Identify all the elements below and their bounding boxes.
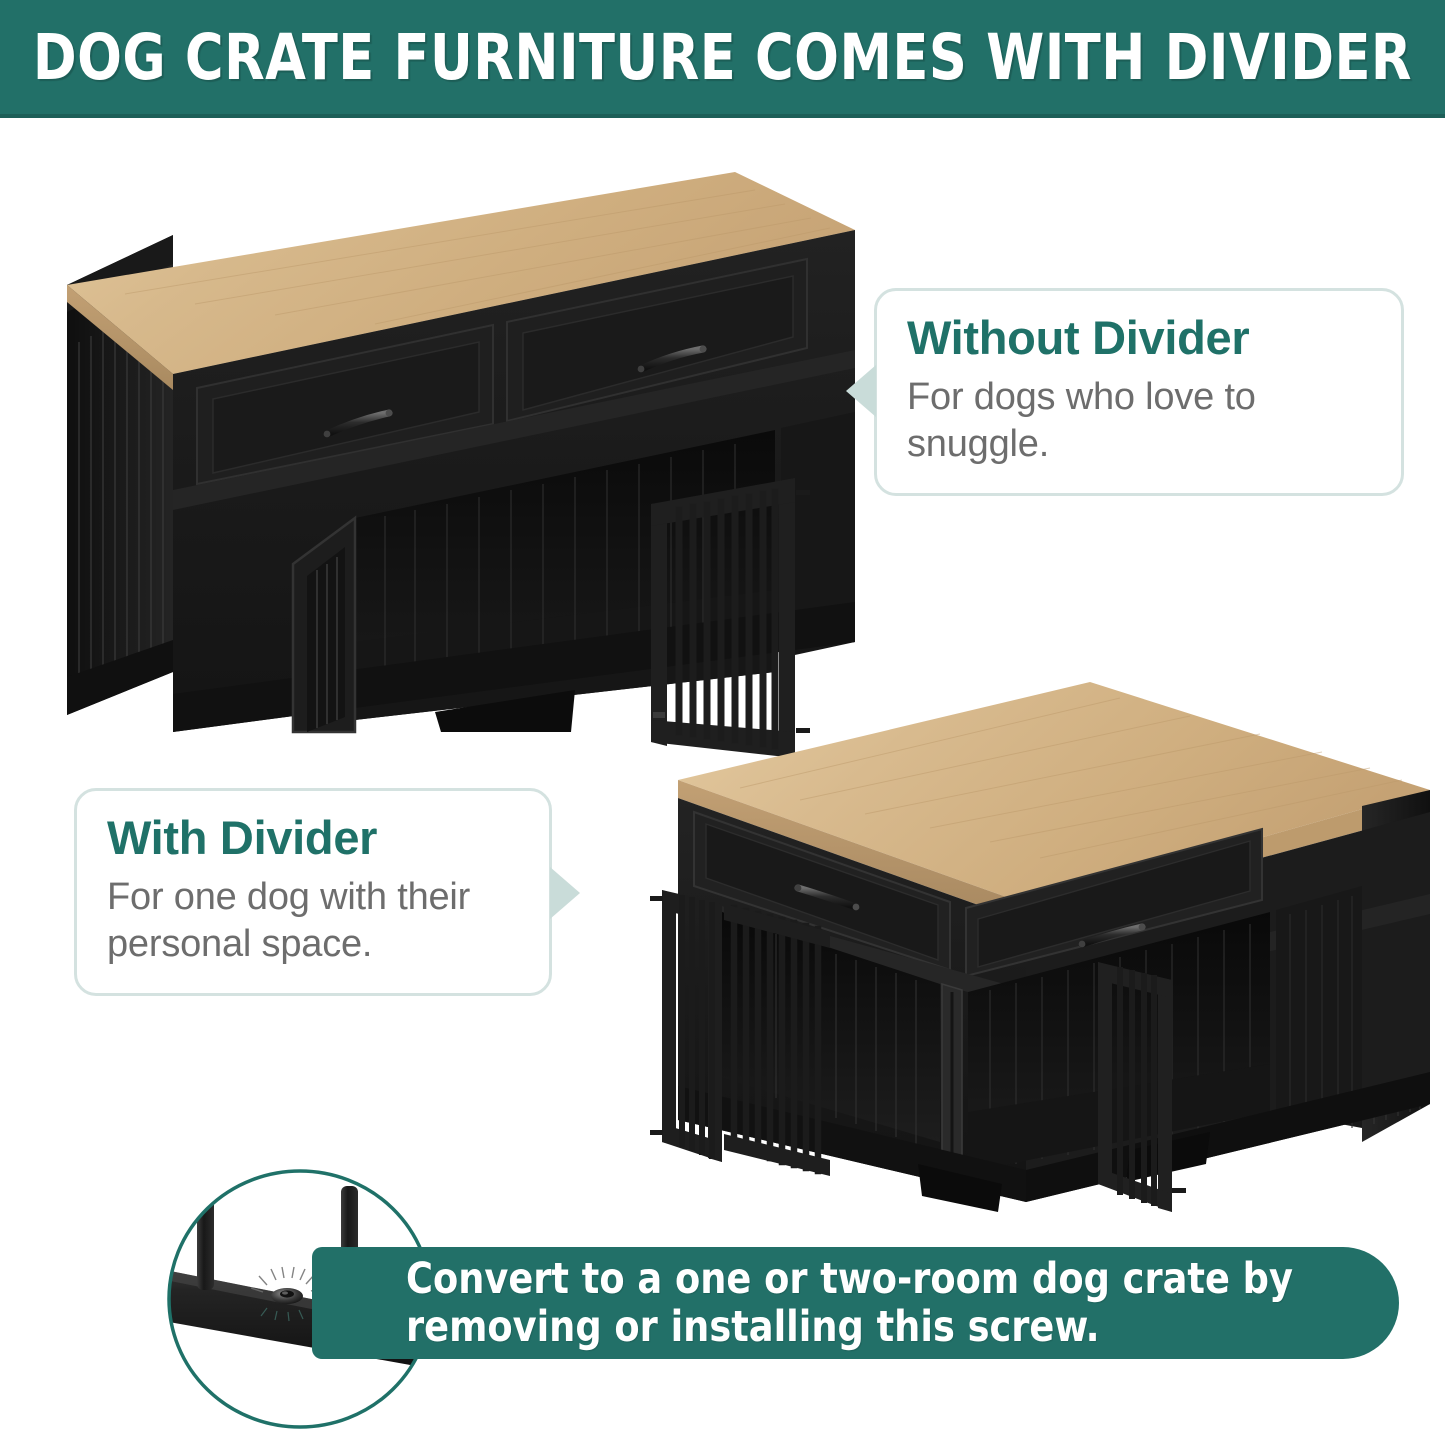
page-title: DOG CRATE FURNITURE COMES WITH DIVIDER [33,21,1412,94]
gate-hinge-top [796,490,810,495]
callout-pointer-icon [846,365,876,417]
callout-without-divider: Without Divider For dogs who love to snu… [874,288,1404,496]
bottom-instruction-banner: Convert to a one or two-room dog crate b… [312,1247,1399,1359]
gate-hinge-bottom [650,1130,663,1135]
callout-body: For dogs who love to snuggle. [907,374,1371,468]
dog-crate-with-divider-image [650,672,1445,1212]
bottom-instruction-text: Convert to a one or two-room dog crate b… [406,1255,1349,1351]
callout-title: With Divider [107,813,519,864]
callout-title: Without Divider [907,313,1371,364]
dog-crate-without-divider-image [55,172,865,732]
callout-body: For one dog with their personal space. [107,874,519,968]
gate-hinge-top [650,896,663,901]
center-divider-panel [942,984,962,1164]
callout-with-divider: With Divider For one dog with their pers… [74,788,552,996]
callout-pointer-icon [550,867,580,919]
gate-hinge-bottom [1172,1188,1186,1193]
header-banner: DOG CRATE FURNITURE COMES WITH DIVIDER [0,0,1445,118]
